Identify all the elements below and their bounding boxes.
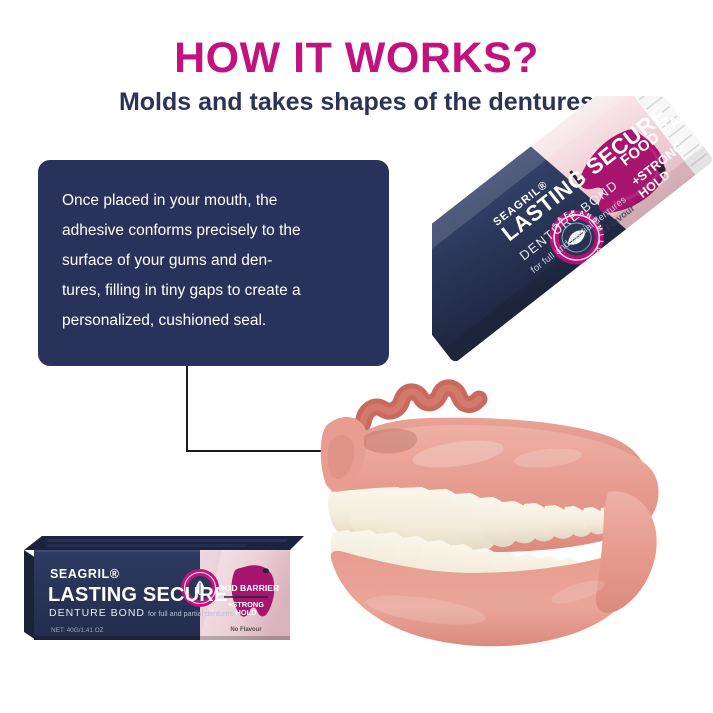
callout-line-3: surface of your gums and den-: [62, 246, 363, 276]
carton-product-type: DENTURE BOND: [49, 607, 145, 619]
carton-tagline: for full and partial dentures: [148, 609, 234, 618]
carton-claim-secondary-b: HOLD: [236, 608, 258, 617]
carton-product-name: LASTING SECURE: [48, 584, 227, 606]
carton-net-weight: NET: 40G/1.41 OZ: [51, 627, 104, 634]
callout-line-2: adhesive conforms precisely to the: [62, 216, 363, 246]
product-carton: FOOD BARRIER +STRONG HOLD No Flavour SEA…: [18, 528, 310, 646]
callout-line-1: Once placed in your mouth, the: [62, 186, 363, 216]
callout-card: Once placed in your mouth, the adhesive …: [38, 160, 389, 366]
product-tube: FOOD BARRIER +STRONG HOLD No Flavour: [432, 96, 712, 416]
callout-line-5: personalized, cushioned seal.: [62, 306, 363, 336]
carton-brand: SEAGRIL®: [50, 567, 120, 581]
infographic-canvas: HOW IT WORKS? Molds and takes shapes of …: [0, 0, 713, 713]
callout-line-4: tures, filling in tiny gaps to create a: [62, 276, 363, 306]
carton-flavour: No Flavour: [230, 627, 262, 633]
denture-model: [308, 392, 683, 682]
page-title: HOW IT WORKS?: [0, 34, 713, 83]
